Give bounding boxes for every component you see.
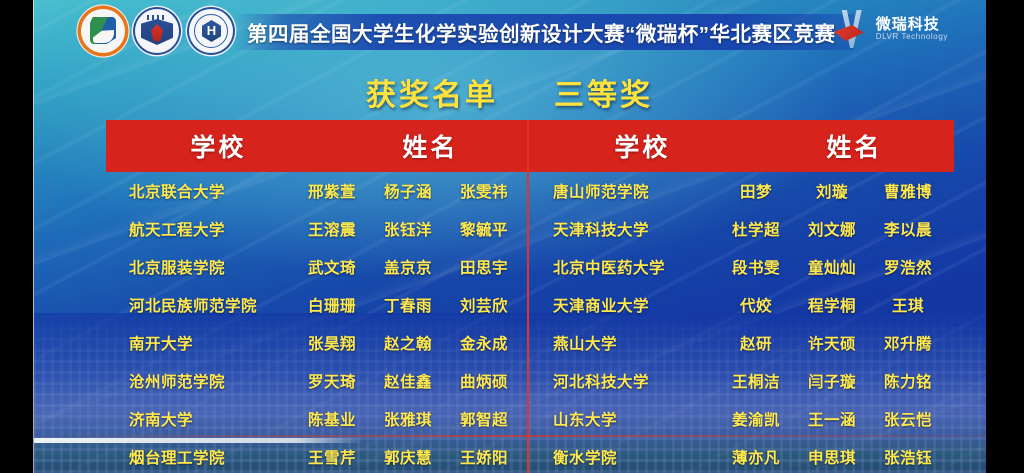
cell-school: 济南大学	[106, 408, 294, 430]
cell-name: 黎毓平	[446, 218, 522, 240]
cell-name: 邢紫萱	[294, 180, 370, 202]
cell-name: 程学桐	[794, 294, 870, 316]
logo-china-university-chemistry-committee-icon	[81, 9, 125, 53]
table-row: 天津商业大学代姣程学桐王琪	[530, 286, 954, 324]
table-row: 北京联合大学邢紫萱杨子涵张雯祎	[106, 172, 530, 210]
cell-name: 杨子涵	[370, 180, 446, 202]
competition-title: 第四届全国大学生化学实验创新设计大赛“微瑞杯”华北赛区竞赛	[247, 17, 836, 47]
cell-name: 李以晨	[870, 218, 946, 240]
cell-name: 刘文娜	[794, 218, 870, 240]
cell-school: 航天工程大学	[106, 218, 294, 240]
cell-name: 张雅琪	[370, 408, 446, 430]
column-header-school: 学校	[614, 134, 670, 162]
cell-name: 童灿灿	[794, 256, 870, 278]
cell-name: 邓升腾	[870, 332, 946, 354]
logo-group: H	[81, 9, 233, 53]
table-row: 沧州师范学院罗天琦赵佳鑫曲炳硕	[106, 362, 530, 400]
slide-header: H 第四届全国大学生化学实验创新设计大赛“微瑞杯”华北赛区竞赛 微瑞科技 DLV…	[33, 0, 986, 62]
table-row: 天津科技大学杜学超刘文娜李以晨	[530, 210, 954, 248]
table-row: 唐山师范学院田梦刘璇曹雅博	[530, 172, 954, 210]
title-banner: 第四届全国大学生化学实验创新设计大赛“微瑞杯”华北赛区竞赛	[233, 14, 854, 50]
table-row: 济南大学陈基业张雅琪郭智超	[106, 400, 530, 438]
cell-name: 曹雅博	[870, 180, 946, 202]
cell-name: 刘芸欣	[446, 294, 522, 316]
cell-name: 张云恺	[870, 408, 946, 430]
cell-name: 赵佳鑫	[370, 370, 446, 392]
logo-hebei-university-of-technology-icon: H	[189, 9, 233, 53]
cell-name: 罗浩然	[870, 256, 946, 278]
cell-name: 代姣	[718, 294, 794, 316]
cell-school: 天津商业大学	[530, 294, 718, 316]
subtitle-prize-tier: 三等奖	[554, 70, 653, 114]
shield-shape	[141, 19, 173, 45]
logo-organizing-committee-icon	[135, 9, 179, 53]
cell-name: 张昊翔	[294, 332, 370, 354]
cell-school: 燕山大学	[530, 332, 718, 354]
winners-table-left: 北京联合大学邢紫萱杨子涵张雯祎航天工程大学王溶震张钰洋黎毓平北京服装学院武文琦盖…	[106, 172, 530, 473]
cell-school: 沧州师范学院	[106, 370, 294, 392]
table-row: 北京中医药大学段书雯童灿灿罗浩然	[530, 248, 954, 286]
cell-name: 张雯祎	[446, 180, 522, 202]
table-row: 衡水学院薄亦凡申思琪张浩钰	[530, 438, 954, 473]
cell-name: 陈基业	[294, 408, 370, 430]
cell-school: 北京联合大学	[106, 180, 294, 202]
cell-school: 唐山师范学院	[530, 180, 718, 202]
cell-name: 武文琦	[294, 256, 370, 278]
table-row: 烟台理工学院王雪芹郭庆慧王娇阳	[106, 438, 530, 473]
table-row: 河北科技大学王桐洁闫子璇陈力铭	[530, 362, 954, 400]
sponsor-name-cn: 微瑞科技	[876, 17, 948, 33]
cell-name: 盖京京	[370, 256, 446, 278]
table-row: 燕山大学赵研许天硕邓升腾	[530, 324, 954, 362]
table-header-left: 学校 姓名	[106, 120, 530, 172]
cell-name: 许天硕	[794, 332, 870, 354]
table-row: 河北民族师范学院白珊珊丁春雨刘芸欣	[106, 286, 530, 324]
column-header-name: 姓名	[826, 134, 882, 162]
sponsor-mark-icon	[834, 8, 870, 50]
sponsor-name-en: DLVR Technology	[876, 33, 948, 41]
cell-name: 段书雯	[718, 256, 794, 278]
cell-name: 白珊珊	[294, 294, 370, 316]
cell-school: 河北民族师范学院	[106, 294, 294, 316]
letterbox-bar-right	[986, 0, 1024, 473]
cell-name: 闫子璇	[794, 370, 870, 392]
cell-name: 薄亦凡	[718, 446, 794, 468]
winners-table-right: 唐山师范学院田梦刘璇曹雅博天津科技大学杜学超刘文娜李以晨北京中医药大学段书雯童灿…	[530, 172, 954, 473]
cell-name: 郭庆慧	[370, 446, 446, 468]
cell-school: 天津科技大学	[530, 218, 718, 240]
cell-name: 王桐洁	[718, 370, 794, 392]
screenshot-root: H 第四届全国大学生化学实验创新设计大赛“微瑞杯”华北赛区竞赛 微瑞科技 DLV…	[0, 0, 1024, 473]
slide-subtitle: 获奖名单 三等奖	[33, 70, 986, 114]
sponsor-red-shape	[834, 25, 864, 41]
cell-school: 北京中医药大学	[530, 256, 718, 278]
table-row: 北京服装学院武文琦盖京京田思宇	[106, 248, 530, 286]
cell-name: 张钰洋	[370, 218, 446, 240]
cell-name: 申思琪	[794, 446, 870, 468]
table-row: 南开大学张昊翔赵之翰金永成	[106, 324, 530, 362]
column-header-name: 姓名	[402, 134, 458, 162]
cell-name: 金永成	[446, 332, 522, 354]
cell-name: 田思宇	[446, 256, 522, 278]
cell-name: 王雪芹	[294, 446, 370, 468]
cell-name: 王溶震	[294, 218, 370, 240]
cell-name: 王一涵	[794, 408, 870, 430]
cell-name: 陈力铭	[870, 370, 946, 392]
cell-name: 杜学超	[718, 218, 794, 240]
letterbox-bar-left	[0, 0, 33, 473]
cell-name: 郭智超	[446, 408, 522, 430]
table-row: 山东大学姜渝凯王一涵张云恺	[530, 400, 954, 438]
sponsor-text: 微瑞科技 DLVR Technology	[876, 17, 948, 41]
cell-name: 王娇阳	[446, 446, 522, 468]
table-header-right: 学校 姓名	[530, 120, 954, 172]
table-body: 北京联合大学邢紫萱杨子涵张雯祎航天工程大学王溶震张钰洋黎毓平北京服装学院武文琦盖…	[106, 172, 954, 473]
cell-name: 田梦	[718, 180, 794, 202]
cell-name: 赵研	[718, 332, 794, 354]
cell-name: 姜渝凯	[718, 408, 794, 430]
cell-school: 南开大学	[106, 332, 294, 354]
cell-name: 王琪	[870, 294, 946, 316]
cell-school: 河北科技大学	[530, 370, 718, 392]
logo-ticks	[147, 15, 167, 20]
subtitle-award-list: 获奖名单	[366, 70, 498, 114]
cell-school: 山东大学	[530, 408, 718, 430]
cell-name: 丁春雨	[370, 294, 446, 316]
cell-name: 曲炳硕	[446, 370, 522, 392]
cell-name: 张浩钰	[870, 446, 946, 468]
cell-school: 北京服装学院	[106, 256, 294, 278]
cell-school: 衡水学院	[530, 446, 718, 468]
cell-name: 刘璇	[794, 180, 870, 202]
presentation-slide: H 第四届全国大学生化学实验创新设计大赛“微瑞杯”华北赛区竞赛 微瑞科技 DLV…	[33, 0, 986, 473]
cell-name: 罗天琦	[294, 370, 370, 392]
table-header-band: 学校 姓名 学校 姓名	[106, 120, 954, 172]
cell-school: 烟台理工学院	[106, 446, 294, 468]
column-header-school: 学校	[190, 134, 246, 162]
table-row: 航天工程大学王溶震张钰洋黎毓平	[106, 210, 530, 248]
sponsor-logo: 微瑞科技 DLVR Technology	[834, 8, 948, 50]
cell-name: 赵之翰	[370, 332, 446, 354]
table-center-divider	[527, 120, 529, 473]
